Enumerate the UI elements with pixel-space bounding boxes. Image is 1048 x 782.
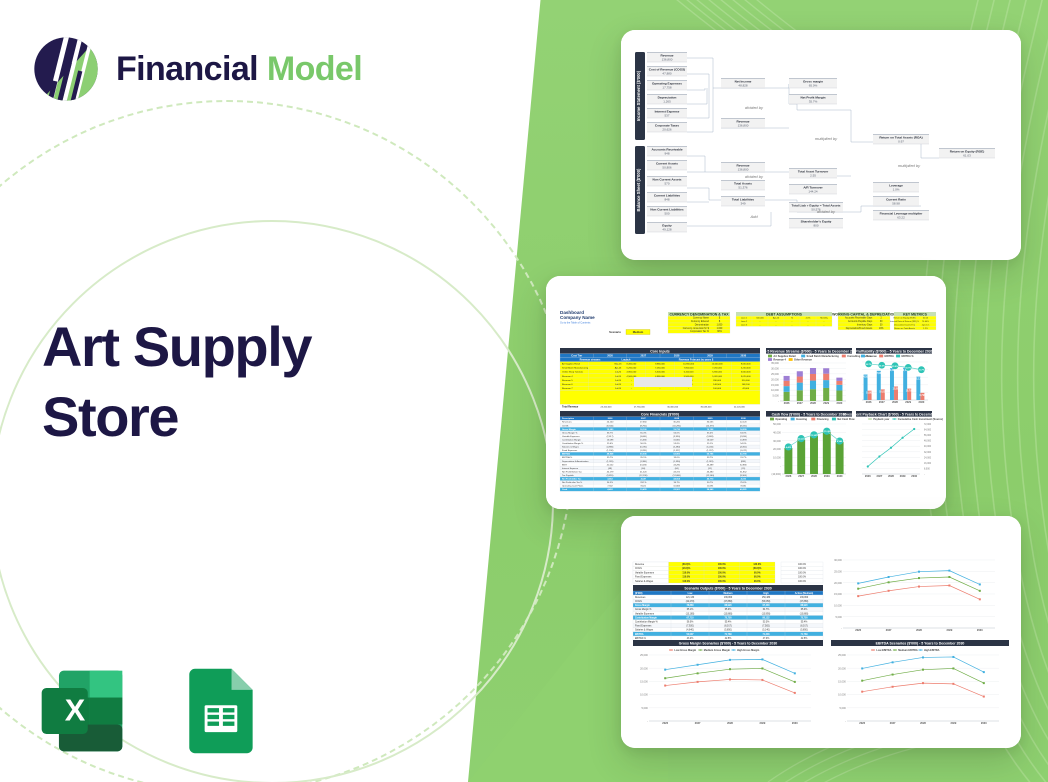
svg-text:537: 537 bbox=[664, 114, 669, 118]
svg-text:KEY METRICS: KEY METRICS bbox=[903, 313, 928, 317]
svg-text:Currency conversion $ / $: Currency conversion $ / $ bbox=[683, 327, 710, 330]
svg-text:848: 848 bbox=[664, 198, 669, 202]
svg-text:Active (Medium): Active (Medium) bbox=[795, 592, 814, 595]
svg-text:High: High bbox=[763, 592, 769, 595]
svg-text:50,035: 50,035 bbox=[640, 454, 647, 456]
svg-text:Return on Equity (ROE): Return on Equity (ROE) bbox=[894, 317, 916, 320]
svg-text:30,535: 30,535 bbox=[707, 422, 714, 424]
svg-text:43.2%: 43.2% bbox=[687, 638, 694, 640]
svg-text:15,000: 15,000 bbox=[834, 593, 842, 596]
svg-text:(8,331): (8,331) bbox=[740, 425, 747, 427]
svg-text:33.7%: 33.7% bbox=[707, 457, 713, 459]
svg-text:8,000: 8,000 bbox=[924, 468, 930, 470]
svg-text:EBITDA Scenarios ($'000) - 5 Y: EBITDA Scenarios ($'000) - 5 Years to De… bbox=[876, 642, 965, 646]
svg-text:Salaries & Wages: Salaries & Wages bbox=[635, 580, 654, 583]
svg-text:136,800: 136,800 bbox=[724, 597, 733, 599]
svg-text:136,800: 136,800 bbox=[800, 597, 809, 599]
svg-text:2029: 2029 bbox=[900, 474, 906, 478]
svg-text:5,000: 5,000 bbox=[840, 707, 847, 710]
svg-text:15,000: 15,000 bbox=[838, 681, 846, 684]
svg-text:(10,377): (10,377) bbox=[706, 425, 714, 427]
svg-text:10,000: 10,000 bbox=[640, 694, 648, 697]
svg-text:30.7%: 30.7% bbox=[707, 482, 713, 484]
svg-text:50,000: 50,000 bbox=[773, 423, 781, 426]
svg-text:Depreciation & Amortisation: Depreciation & Amortisation bbox=[562, 460, 589, 463]
svg-text:Gross Margin: Gross Margin bbox=[635, 605, 650, 607]
scenario-analysis-sheet: Revenue(80.0)%100.0%120.0%100.0%COGS(20.… bbox=[621, 516, 1021, 748]
microsoft-excel-icon[interactable]: X bbox=[34, 663, 130, 759]
svg-text:Medium EBITDA: Medium EBITDA bbox=[898, 649, 918, 652]
svg-text:2027: 2027 bbox=[879, 400, 885, 404]
svg-text:41,520: 41,520 bbox=[640, 471, 647, 473]
svg-text:100.0%: 100.0% bbox=[798, 572, 806, 574]
svg-text:-: - bbox=[778, 400, 779, 403]
svg-text:51,376: 51,376 bbox=[738, 186, 748, 190]
svg-text:Low Gross Margin: Low Gross Margin bbox=[674, 649, 696, 652]
svg-text:50,796: 50,796 bbox=[707, 454, 714, 456]
svg-text:Jul-26: Jul-26 bbox=[615, 384, 622, 386]
svg-text:Depreciation/Fixed Assets: Depreciation/Fixed Assets bbox=[846, 327, 873, 330]
svg-text:56.0%: 56.0% bbox=[687, 622, 694, 624]
svg-text:20,000: 20,000 bbox=[834, 582, 842, 585]
svg-text:2029: 2029 bbox=[947, 628, 953, 632]
svg-text:35.7%: 35.7% bbox=[809, 100, 818, 104]
svg-text:(7,920): (7,920) bbox=[686, 626, 694, 628]
page-title-line-2: Store bbox=[42, 382, 311, 452]
svg-text:71,769: 71,769 bbox=[800, 634, 808, 636]
svg-text:150,480: 150,480 bbox=[762, 597, 771, 599]
svg-text:2026: 2026 bbox=[662, 721, 668, 725]
svg-text:110.0%: 110.0% bbox=[682, 581, 690, 583]
svg-text:2030: 2030 bbox=[741, 355, 747, 358]
svg-text:42.5%: 42.5% bbox=[801, 638, 808, 640]
svg-text:22,120: 22,120 bbox=[915, 379, 923, 381]
svg-text:Gross Margin %: Gross Margin % bbox=[562, 432, 577, 434]
svg-text:9,880,000: 9,880,000 bbox=[655, 364, 666, 366]
svg-text:EBITDA: EBITDA bbox=[885, 355, 895, 358]
svg-text:2027: 2027 bbox=[641, 418, 647, 420]
svg-text:44,770: 44,770 bbox=[707, 478, 714, 481]
svg-text:(3,869): (3,869) bbox=[707, 436, 714, 438]
svg-text:100.0%: 100.0% bbox=[798, 568, 806, 570]
svg-text:2027: 2027 bbox=[877, 474, 883, 478]
svg-text:Small Batch Manufacturing: Small Batch Manufacturing bbox=[562, 367, 589, 370]
svg-text:2026: 2026 bbox=[608, 418, 614, 420]
svg-text:35.0%: 35.0% bbox=[674, 457, 680, 459]
svg-text:8,940: 8,940 bbox=[837, 440, 843, 443]
svg-text:Fixed Expenses: Fixed Expenses bbox=[562, 450, 577, 452]
svg-text:25.6%: 25.6% bbox=[740, 482, 746, 484]
svg-text:2027: 2027 bbox=[641, 355, 647, 358]
svg-text:2027: 2027 bbox=[797, 401, 803, 405]
brand-logo[interactable]: Financial Model bbox=[30, 33, 362, 105]
svg-text:Jul-26: Jul-26 bbox=[615, 372, 622, 374]
svg-text:Salaries & Wages: Salaries & Wages bbox=[562, 447, 579, 449]
svg-text:Investing: Investing bbox=[796, 418, 807, 421]
svg-text:Interest Expense: Interest Expense bbox=[562, 467, 579, 470]
svg-text:65.0%: 65.0% bbox=[809, 84, 818, 88]
svg-text:X: X bbox=[65, 693, 86, 728]
svg-text:EBITDA %: EBITDA % bbox=[901, 355, 914, 358]
svg-text:25,000: 25,000 bbox=[771, 373, 779, 376]
svg-text:54.0%: 54.0% bbox=[740, 443, 746, 445]
summary-dashboard-sheet: DashboardCompany NameGo to the Table of … bbox=[546, 276, 946, 509]
svg-text:Net Cash Flow: Net Cash Flow bbox=[837, 418, 854, 421]
svg-text:Denomination: Denomination bbox=[695, 323, 710, 326]
svg-text:(2,617): (2,617) bbox=[607, 436, 614, 438]
svg-text:Fixed Expenses: Fixed Expenses bbox=[635, 577, 652, 579]
svg-text:5,600,000: 5,600,000 bbox=[655, 372, 666, 374]
dupont-ratio-tree-card[interactable]: Income Statement ($'000) Balance Sheet (… bbox=[621, 30, 1021, 260]
svg-text:Financing: Financing bbox=[817, 418, 829, 421]
svg-text:4,452: 4,452 bbox=[607, 478, 613, 481]
svg-text:(10,000): (10,000) bbox=[771, 473, 780, 476]
svg-text:2030: 2030 bbox=[792, 721, 798, 725]
svg-text:55.6%: 55.6% bbox=[674, 443, 680, 445]
svg-text:Salaries & Wages: Salaries & Wages bbox=[635, 629, 654, 632]
svg-text:74.64%: 74.64% bbox=[922, 321, 929, 323]
svg-text:28,640: 28,640 bbox=[707, 488, 714, 491]
svg-text:multiplied by: multiplied by bbox=[898, 163, 921, 168]
svg-text:43,480: 43,480 bbox=[707, 471, 714, 473]
svg-text:Inventory Days: Inventory Days bbox=[857, 323, 873, 326]
svg-text:61.03: 61.03 bbox=[923, 318, 929, 320]
page-title: Art Supply Store bbox=[42, 312, 311, 452]
svg-text:3,020,000: 3,020,000 bbox=[741, 376, 752, 378]
slide-canvas: Financial Model Art Supply Store X bbox=[0, 0, 1048, 782]
svg-text:4,310: 4,310 bbox=[741, 478, 747, 481]
svg-text:20,000: 20,000 bbox=[773, 448, 781, 451]
svg-text:25,000: 25,000 bbox=[838, 654, 846, 657]
scenario-analysis-card[interactable]: Revenue(80.0)%100.0%120.0%100.0%COGS(20.… bbox=[621, 516, 1021, 748]
svg-text:30,400,000: 30,400,000 bbox=[667, 406, 679, 408]
svg-text:(13,880): (13,880) bbox=[724, 613, 733, 615]
svg-text:24,100: 24,100 bbox=[862, 376, 870, 379]
svg-text:($'000): ($'000) bbox=[635, 592, 643, 595]
svg-text:Net Profit after Tax %: Net Profit after Tax % bbox=[562, 481, 582, 484]
svg-text:Other Revenue: Other Revenue bbox=[794, 359, 812, 362]
svg-text:(1,285): (1,285) bbox=[640, 450, 647, 452]
svg-text:35.5%: 35.5% bbox=[879, 365, 885, 367]
svg-text:-: - bbox=[647, 720, 648, 723]
svg-text:(60): (60) bbox=[641, 468, 645, 470]
svg-text:(31): (31) bbox=[741, 468, 745, 470]
svg-text:65.0%: 65.0% bbox=[725, 609, 732, 611]
svg-text:Revenue 4: Revenue 4 bbox=[562, 376, 573, 378]
summary-dashboard-card[interactable]: DashboardCompany NameGo to the Table of … bbox=[546, 276, 946, 509]
svg-text:1,000: 1,000 bbox=[717, 324, 723, 326]
svg-text:100.0%: 100.0% bbox=[718, 577, 726, 579]
svg-text:65.1%: 65.1% bbox=[687, 609, 694, 611]
svg-text:10,893: 10,893 bbox=[740, 439, 747, 441]
svg-text:Operating Cash Flows: Operating Cash Flows bbox=[562, 485, 583, 488]
svg-text:2026: 2026 bbox=[784, 401, 790, 405]
svg-text:948: 948 bbox=[664, 152, 669, 156]
svg-text:64,000: 64,000 bbox=[924, 430, 932, 432]
svg-text:Low EBITDA: Low EBITDA bbox=[876, 649, 891, 652]
svg-text:Medium: Medium bbox=[633, 330, 644, 334]
svg-text:4,900,000: 4,900,000 bbox=[627, 372, 638, 374]
svg-text:(895): (895) bbox=[741, 461, 746, 463]
svg-text:10,806: 10,806 bbox=[866, 393, 874, 395]
svg-text:Profitability ($'000) - 5 Year: Profitability ($'000) - 5 Years to Decem… bbox=[855, 349, 932, 353]
svg-text:Low: Low bbox=[688, 592, 693, 595]
svg-text:10,455: 10,455 bbox=[640, 488, 647, 491]
svg-text:Gross Margin Scenarios ($'000): Gross Margin Scenarios ($'000) - 5 Years… bbox=[679, 642, 777, 646]
svg-text:7,900,000: 7,900,000 bbox=[684, 368, 695, 370]
svg-text:2030: 2030 bbox=[919, 400, 925, 404]
svg-text:Discounted Cash (Yrs): Discounted Cash (Yrs) bbox=[894, 323, 915, 326]
svg-text:121,130: 121,130 bbox=[686, 597, 695, 599]
svg-text:35.0%: 35.0% bbox=[892, 366, 898, 368]
svg-text:16,800: 16,800 bbox=[673, 439, 680, 441]
svg-text:100.0%: 100.0% bbox=[718, 581, 726, 583]
svg-text:20,000: 20,000 bbox=[771, 378, 779, 381]
svg-text:330,000: 330,000 bbox=[713, 380, 722, 382]
svg-text:19,730: 19,730 bbox=[673, 429, 680, 431]
svg-text:72,000: 72,000 bbox=[924, 424, 932, 426]
svg-text:110.0%: 110.0% bbox=[682, 572, 690, 574]
svg-text:90.0%: 90.0% bbox=[754, 581, 761, 583]
svg-text:100.0%: 100.0% bbox=[798, 581, 806, 583]
svg-text:(4,880): (4,880) bbox=[607, 447, 614, 449]
svg-text:15,000: 15,000 bbox=[640, 681, 648, 684]
svg-text:78,860: 78,860 bbox=[686, 605, 694, 607]
app-format-icons: X bbox=[34, 663, 268, 759]
svg-text:Core Inputs: Core Inputs bbox=[650, 349, 669, 353]
svg-text:25,000: 25,000 bbox=[834, 570, 842, 573]
svg-text:(1,327): (1,327) bbox=[673, 450, 680, 452]
svg-text:136,800: 136,800 bbox=[738, 168, 749, 172]
svg-text:Scenario Outputs ($'000) - 5 Y: Scenario Outputs ($'000) - 5 Years to De… bbox=[684, 587, 771, 591]
svg-text:Gross Margin: Gross Margin bbox=[562, 429, 576, 431]
svg-text:(12,190): (12,190) bbox=[639, 475, 647, 477]
svg-text:66.7%: 66.7% bbox=[607, 432, 613, 434]
svg-text:Currency Name: Currency Name bbox=[693, 317, 710, 320]
svg-text:43,280: 43,280 bbox=[640, 464, 647, 466]
svg-text:16,000: 16,000 bbox=[924, 463, 932, 465]
svg-text:Revenue 7: Revenue 7 bbox=[562, 388, 573, 390]
svg-text:13,098: 13,098 bbox=[607, 439, 614, 441]
svg-text:Apr-26: Apr-26 bbox=[773, 317, 780, 320]
svg-text:2yrs 1m: 2yrs 1m bbox=[922, 323, 930, 326]
svg-text:144.24: 144.24 bbox=[808, 190, 818, 194]
svg-text:Go to the Table of Contents: Go to the Table of Contents bbox=[560, 322, 591, 325]
svg-text:2029: 2029 bbox=[824, 474, 830, 478]
svg-text:27,660: 27,660 bbox=[875, 373, 883, 375]
svg-text:75,750: 75,750 bbox=[800, 617, 808, 619]
svg-text:61.03: 61.03 bbox=[963, 154, 971, 158]
svg-text:2029: 2029 bbox=[760, 721, 766, 725]
svg-text:2028: 2028 bbox=[810, 401, 816, 405]
svg-text:100.0%: 100.0% bbox=[798, 564, 806, 566]
svg-text:2026: 2026 bbox=[855, 628, 861, 632]
svg-text:COGS: COGS bbox=[562, 425, 569, 427]
svg-text:100.0%: 100.0% bbox=[718, 568, 726, 570]
svg-text:5,000: 5,000 bbox=[773, 395, 780, 398]
svg-text:15,680: 15,680 bbox=[640, 439, 647, 441]
svg-text:Jul-26: Jul-26 bbox=[615, 380, 622, 382]
svg-text:Payback year: Payback year bbox=[873, 418, 889, 421]
svg-text:4.0%: 4.0% bbox=[806, 318, 811, 320]
svg-text:Jul-26: Jul-26 bbox=[615, 376, 622, 378]
svg-text:EBIT: EBIT bbox=[562, 464, 567, 466]
svg-text:(7,582): (7,582) bbox=[762, 626, 770, 628]
svg-text:Cash flow ($'000) - 5 Years to: Cash flow ($'000) - 5 Years to December … bbox=[772, 412, 847, 416]
svg-text:41,552: 41,552 bbox=[607, 464, 614, 466]
svg-text:35,000: 35,000 bbox=[771, 362, 779, 365]
svg-text:40,000: 40,000 bbox=[773, 431, 781, 434]
svg-text:2030: 2030 bbox=[837, 474, 843, 478]
svg-text:(1,381): (1,381) bbox=[707, 461, 714, 463]
svg-text:Total Revenue: Total Revenue bbox=[562, 405, 579, 408]
svg-text:1,265: 1,265 bbox=[663, 100, 671, 104]
svg-text:(47,880): (47,880) bbox=[724, 601, 733, 603]
svg-text:Revenues: Revenues bbox=[562, 422, 572, 424]
svg-text:1.0%: 1.0% bbox=[893, 188, 900, 192]
svg-text:10,900,000: 10,900,000 bbox=[683, 364, 695, 366]
svg-text:40,179: 40,179 bbox=[607, 471, 614, 473]
svg-text:2026: 2026 bbox=[786, 474, 792, 478]
svg-text:(8,017): (8,017) bbox=[724, 626, 732, 628]
svg-text:48,000: 48,000 bbox=[924, 441, 932, 443]
svg-text:100.0%: 100.0% bbox=[718, 564, 726, 566]
svg-text:4,452: 4,452 bbox=[607, 488, 613, 491]
svg-text:Add: Add bbox=[749, 214, 758, 219]
svg-text:42.5%: 42.5% bbox=[725, 638, 732, 640]
svg-text:Balance Sheet ($'000): Balance Sheet ($'000) bbox=[636, 168, 641, 211]
svg-text:97,430: 97,430 bbox=[762, 604, 770, 607]
svg-text:9,650,000: 9,650,000 bbox=[741, 364, 752, 366]
svg-text:Description: Description bbox=[562, 417, 575, 420]
svg-text:Scenario: Scenario bbox=[609, 330, 621, 334]
svg-text:High EBITDA: High EBITDA bbox=[924, 649, 940, 652]
svg-text:800: 800 bbox=[813, 224, 818, 228]
svg-text:71,769: 71,769 bbox=[724, 634, 732, 636]
svg-text:24,100,000: 24,100,000 bbox=[601, 406, 613, 408]
svg-text:2027: 2027 bbox=[695, 721, 701, 725]
svg-text:Contribution Margin %: Contribution Margin % bbox=[635, 621, 658, 624]
svg-text:49,128: 49,128 bbox=[662, 228, 672, 232]
svg-text:18,100: 18,100 bbox=[640, 429, 647, 431]
svg-text:(2,834): (2,834) bbox=[740, 436, 747, 438]
svg-text:(80.0)%: (80.0)% bbox=[753, 568, 761, 570]
svg-text:2030: 2030 bbox=[741, 418, 747, 420]
svg-text:Medium: Medium bbox=[723, 592, 732, 595]
google-sheets-icon[interactable] bbox=[172, 663, 268, 759]
svg-text:5,000: 5,000 bbox=[836, 616, 843, 619]
svg-text:2026: 2026 bbox=[859, 721, 865, 725]
svg-text:6,100,000: 6,100,000 bbox=[684, 372, 695, 374]
svg-text:(5,850): (5,850) bbox=[724, 630, 732, 632]
svg-text:(9,855): (9,855) bbox=[607, 475, 614, 477]
svg-text:2026: 2026 bbox=[865, 474, 871, 478]
svg-text:19,198: 19,198 bbox=[707, 429, 714, 431]
svg-text:20,000: 20,000 bbox=[640, 667, 648, 670]
pie-bar-circle-logo-icon bbox=[30, 33, 102, 105]
svg-text:63.0%: 63.0% bbox=[740, 432, 746, 434]
svg-text:25,000: 25,000 bbox=[640, 654, 648, 657]
svg-text:16,009: 16,009 bbox=[707, 439, 714, 441]
svg-text:(1,190): (1,190) bbox=[607, 450, 614, 452]
svg-text:310,000: 310,000 bbox=[742, 380, 751, 382]
svg-text:31.7%: 31.7% bbox=[918, 370, 924, 372]
svg-text:33.1%: 33.1% bbox=[640, 482, 646, 484]
svg-text:44,664: 44,664 bbox=[673, 478, 680, 481]
svg-text:Core Financials ($'000): Core Financials ($'000) bbox=[641, 412, 679, 416]
svg-text:40,281: 40,281 bbox=[740, 488, 747, 491]
svg-text:22,120: 22,120 bbox=[740, 422, 747, 424]
svg-text:65.4%: 65.4% bbox=[707, 432, 713, 434]
svg-text:47.0%: 47.0% bbox=[763, 638, 770, 640]
svg-text:43,290: 43,290 bbox=[673, 464, 680, 466]
svg-text:Revenue: Revenue bbox=[635, 564, 645, 566]
brand-logo-text: Financial Model bbox=[116, 50, 362, 89]
svg-text:Revenue: Revenue bbox=[866, 355, 877, 358]
svg-text:Apr-26: Apr-26 bbox=[615, 367, 622, 370]
svg-text:43,489: 43,489 bbox=[707, 464, 714, 466]
svg-text:30%: 30% bbox=[717, 331, 722, 333]
svg-text:Return on Total Assets: Return on Total Assets bbox=[894, 327, 915, 330]
svg-text:67,710: 67,710 bbox=[686, 617, 694, 619]
svg-text:(3,930): (3,930) bbox=[673, 436, 680, 438]
svg-text:Top 5 Revenue Streams ($'000): Top 5 Revenue Streams ($'000) - 5 Years … bbox=[760, 349, 858, 353]
svg-text:22,901: 22,901 bbox=[673, 489, 680, 491]
svg-text:5,250,000: 5,250,000 bbox=[741, 368, 752, 370]
svg-text:42,000: 42,000 bbox=[742, 388, 749, 390]
svg-text:(51): (51) bbox=[708, 468, 712, 470]
svg-text:10,035: 10,035 bbox=[879, 391, 887, 393]
svg-text:100.0%: 100.0% bbox=[718, 572, 726, 574]
svg-text:-: - bbox=[780, 465, 781, 468]
svg-text:Contribution Margin: Contribution Margin bbox=[562, 438, 581, 441]
svg-text:EBITDA %: EBITDA % bbox=[562, 456, 572, 459]
svg-text:Company Name: Company Name bbox=[560, 315, 595, 320]
svg-text:2028: 2028 bbox=[674, 418, 680, 420]
svg-text:2030: 2030 bbox=[981, 721, 987, 725]
svg-text:Art Supplies Retail: Art Supplies Retail bbox=[562, 363, 581, 366]
svg-text:80,132: 80,132 bbox=[762, 617, 770, 619]
svg-text:Cost Tier: Cost Tier bbox=[571, 355, 582, 358]
svg-text:43,722: 43,722 bbox=[673, 471, 680, 473]
svg-text:30,000: 30,000 bbox=[773, 440, 781, 443]
svg-text:20,000: 20,000 bbox=[838, 667, 846, 670]
svg-text:15,000: 15,000 bbox=[771, 384, 779, 387]
svg-text:90.0%: 90.0% bbox=[754, 577, 761, 579]
svg-text:(8,017): (8,017) bbox=[800, 626, 808, 628]
svg-text:10,000: 10,000 bbox=[773, 456, 781, 459]
svg-text:Loan 3: Loan 3 bbox=[741, 324, 748, 326]
svg-text:500: 500 bbox=[664, 212, 669, 216]
svg-text:divided by: divided by bbox=[745, 174, 764, 179]
svg-text:3,600,000: 3,600,000 bbox=[741, 372, 752, 374]
svg-text:(53,050): (53,050) bbox=[762, 601, 771, 603]
svg-text:2029: 2029 bbox=[708, 418, 714, 420]
svg-text:71,336: 71,336 bbox=[762, 634, 770, 636]
svg-text:2029: 2029 bbox=[823, 401, 829, 405]
svg-text:Contribution Margin %: Contribution Margin % bbox=[562, 442, 583, 445]
svg-text:30,000: 30,000 bbox=[771, 368, 779, 371]
svg-text:65.0%: 65.0% bbox=[801, 609, 808, 611]
brand-word-model: Model bbox=[267, 50, 362, 88]
svg-text:15,680: 15,680 bbox=[607, 429, 614, 431]
svg-text:1.2%: 1.2% bbox=[923, 328, 928, 330]
svg-text:2029: 2029 bbox=[905, 400, 911, 404]
svg-text:Monthly: Monthly bbox=[820, 317, 828, 320]
svg-text:Revenue 5: Revenue 5 bbox=[562, 380, 573, 382]
svg-text:(5,480): (5,480) bbox=[673, 447, 680, 449]
svg-text:53.3%: 53.3% bbox=[763, 622, 770, 624]
